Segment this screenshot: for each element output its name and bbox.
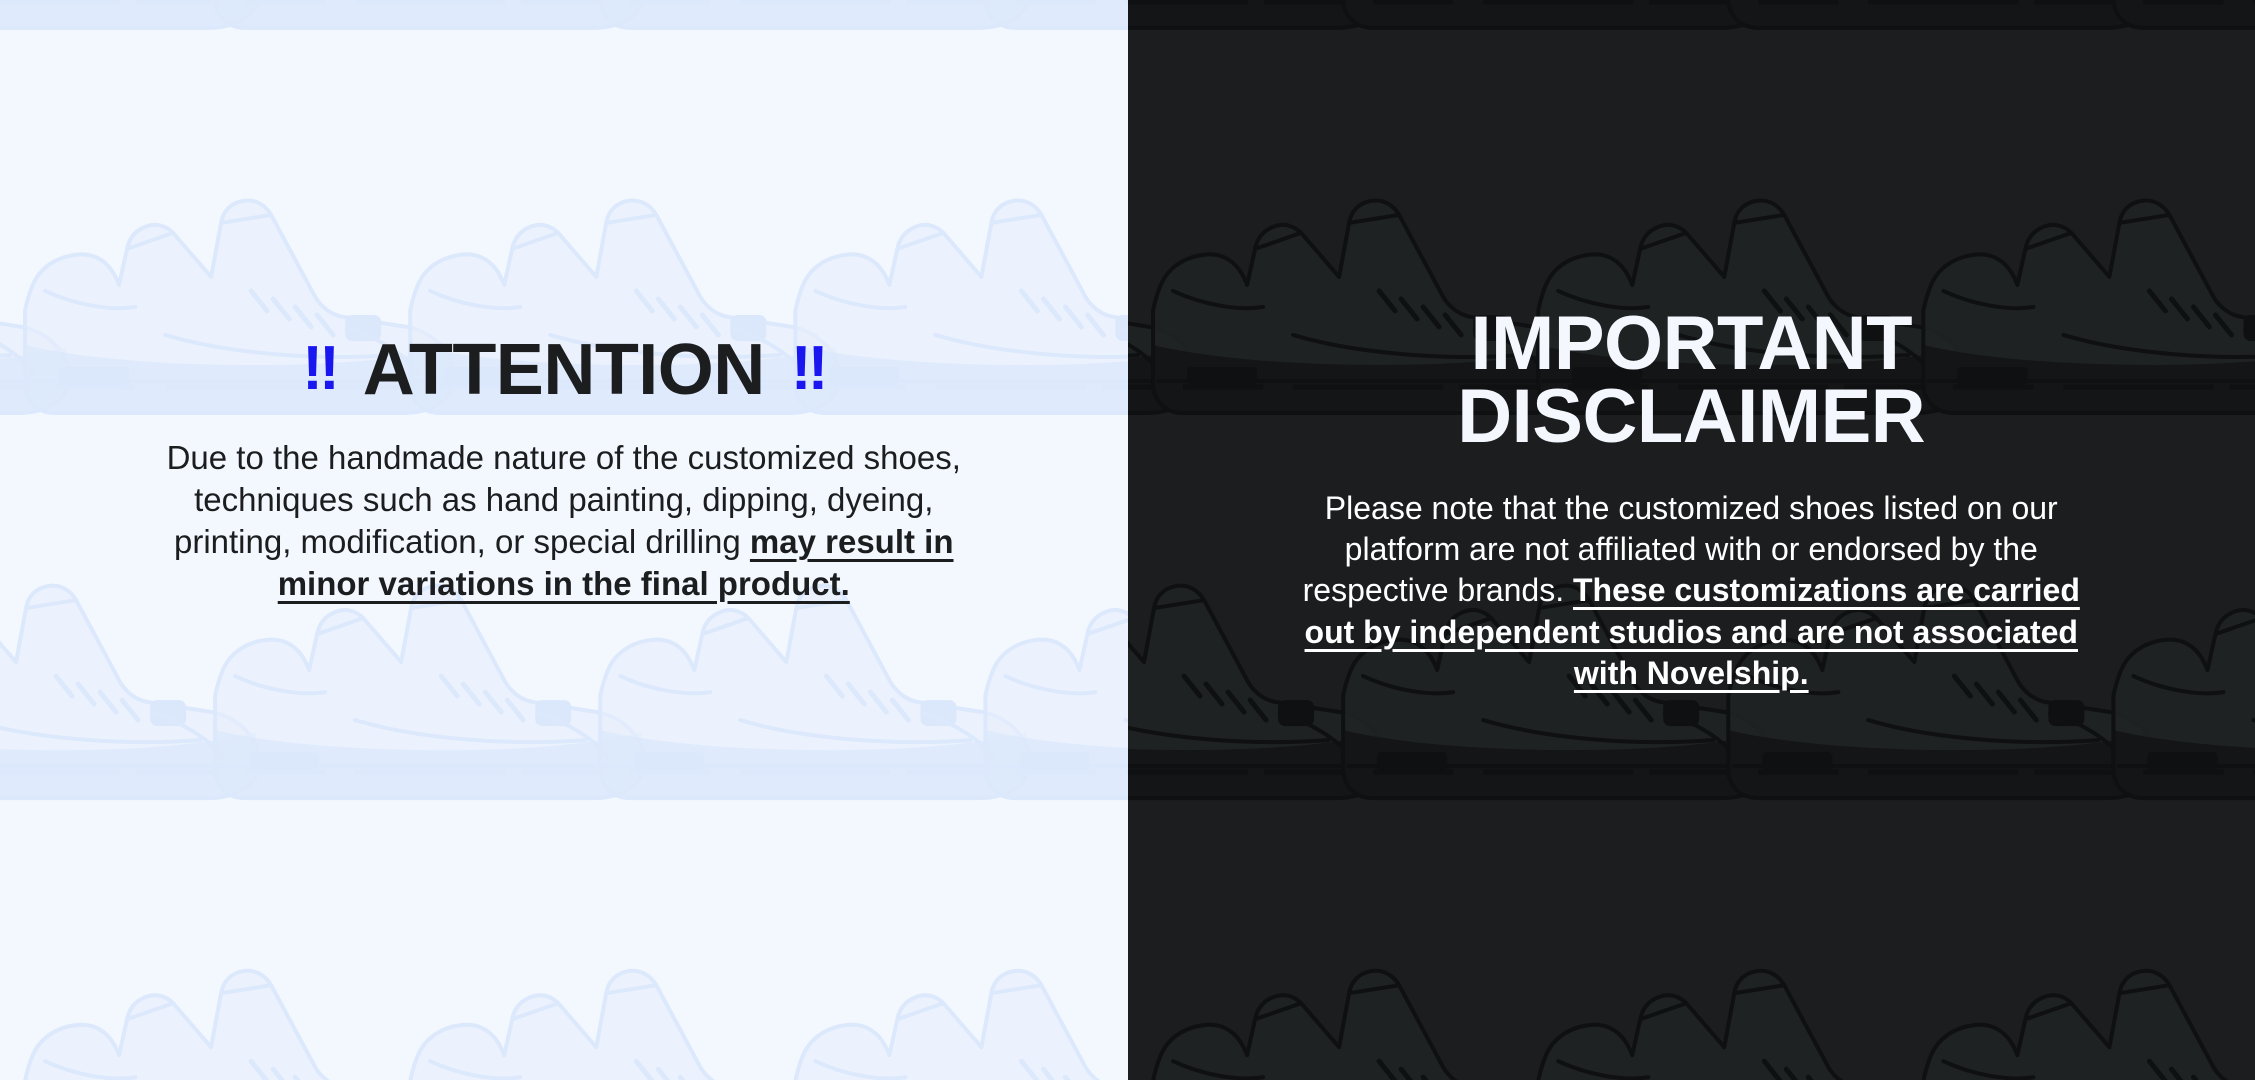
attention-heading-text: ATTENTION: [363, 336, 765, 405]
disclaimer-content: IMPORTANT DISCLAIMER Please note that th…: [1128, 0, 2255, 694]
disclaimer-body: Please note that the customized shoes li…: [1286, 488, 2096, 694]
disclaimer-heading-line-2: DISCLAIMER: [1457, 381, 1925, 454]
attention-body: Due to the handmade nature of the custom…: [164, 437, 964, 605]
attention-content: ‼ ATTENTION ‼ Due to the handmade nature…: [0, 0, 1128, 605]
double-exclamation-right-icon: ‼: [791, 338, 825, 400]
disclaimer-banner: ‼ ATTENTION ‼ Due to the handmade nature…: [0, 0, 2255, 1080]
attention-heading: ‼ ATTENTION ‼: [302, 336, 825, 405]
disclaimer-heading: IMPORTANT DISCLAIMER: [1457, 308, 1925, 454]
disclaimer-panel: IMPORTANT DISCLAIMER Please note that th…: [1128, 0, 2255, 1080]
attention-panel: ‼ ATTENTION ‼ Due to the handmade nature…: [0, 0, 1128, 1080]
double-exclamation-left-icon: ‼: [302, 338, 336, 400]
disclaimer-heading-line-1: IMPORTANT: [1457, 308, 1925, 381]
